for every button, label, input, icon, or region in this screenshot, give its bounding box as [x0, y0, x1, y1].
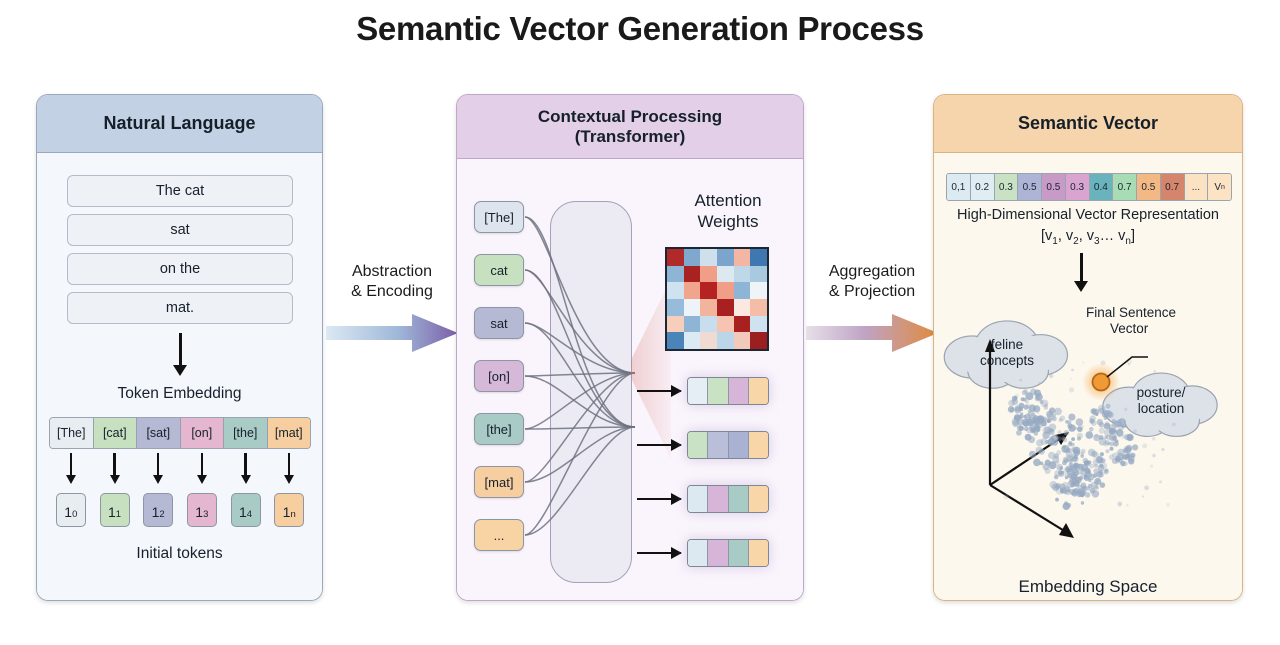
output-vector-segment — [749, 432, 768, 458]
sentence-line: on the — [67, 253, 293, 285]
output-vector-segment — [749, 486, 768, 512]
output-vector-segment — [708, 486, 728, 512]
embedding-cell: [The] — [50, 418, 94, 448]
attention-cell — [717, 316, 734, 333]
contextual-token: cat — [474, 254, 524, 286]
panel-contextual-processing: Contextual Processing (Transformer) [The… — [456, 94, 804, 601]
output-arrow-icon — [637, 390, 681, 392]
attention-cell — [700, 266, 717, 283]
output-vector-segment — [688, 378, 708, 404]
gradient-arrow-icon — [806, 312, 938, 354]
initial-token-cell: 11 — [100, 493, 130, 527]
down-arrow-icon — [180, 453, 224, 484]
token-embedding-row: [The][cat][sat][on][the][mat] — [49, 417, 311, 449]
initial-token-cell: 14 — [231, 493, 261, 527]
attention-cell — [717, 249, 734, 266]
attention-cell — [667, 299, 684, 316]
down-arrow-icon — [267, 453, 311, 484]
semantic-vector-cell: 0.4 — [1090, 174, 1114, 200]
semantic-vector-cell: 0.7 — [1113, 174, 1137, 200]
attention-cell — [700, 282, 717, 299]
initial-token-cell: 10 — [56, 493, 86, 527]
sentence-line: mat. — [67, 292, 293, 324]
output-vector-segment — [729, 486, 749, 512]
down-arrow-icon — [93, 453, 137, 484]
connector-label: Aggregation & Projection — [806, 262, 938, 302]
connector-aggregation-projection: Aggregation & Projection — [806, 262, 938, 354]
attention-cell — [700, 249, 717, 266]
output-vector-segment — [688, 486, 708, 512]
output-vector — [687, 539, 769, 567]
connector-abstraction-encoding: Abstraction & Encoding — [326, 262, 458, 354]
attention-cell — [684, 266, 701, 283]
attention-cell — [734, 249, 751, 266]
semantic-vector-cell: 0.2 — [971, 174, 995, 200]
output-vector — [687, 485, 769, 513]
embedding-space-plot: feline concepts posture/ location Final … — [934, 289, 1243, 559]
attention-cell — [667, 332, 684, 349]
contextual-token: sat — [474, 307, 524, 339]
output-vector-segment — [708, 378, 728, 404]
output-vector-segment — [729, 378, 749, 404]
panel-header-line1: Contextual Processing — [538, 107, 722, 127]
attention-cell — [734, 332, 751, 349]
embedding-cell: [on] — [181, 418, 225, 448]
sentence-line: sat — [67, 214, 293, 246]
contextual-token: [on] — [474, 360, 524, 392]
down-arrow-icon — [224, 453, 268, 484]
embedding-cell: [the] — [224, 418, 268, 448]
semantic-vector-cell: 0,1 — [947, 174, 971, 200]
token-embedding-label: Token Embedding — [37, 385, 322, 403]
panel-header-line2: (Transformer) — [538, 127, 722, 147]
semantic-vector-cell: 0.5 — [1042, 174, 1066, 200]
output-vector — [687, 377, 769, 405]
attention-cell — [667, 316, 684, 333]
semantic-vector-cell: 0.7 — [1161, 174, 1185, 200]
attention-cell — [717, 299, 734, 316]
output-vector-segment — [749, 378, 768, 404]
attention-cell — [667, 282, 684, 299]
contextual-token: [mat] — [474, 466, 524, 498]
attention-cell — [667, 249, 684, 266]
output-vector-segment — [688, 540, 708, 566]
attention-cell — [684, 299, 701, 316]
panel-natural-language-header: Natural Language — [37, 95, 322, 153]
attention-cell — [684, 282, 701, 299]
semantic-vector-cell: 0.5 — [1018, 174, 1042, 200]
high-dimensional-vector-row: 0,10.20.30.50.50.30.40.70.50.7...Vn — [946, 173, 1232, 201]
page-title: Semantic Vector Generation Process — [0, 10, 1280, 48]
attention-cell — [750, 316, 767, 333]
attention-cell — [684, 249, 701, 266]
attention-cell — [717, 332, 734, 349]
initial-token-cell: 1n — [274, 493, 304, 527]
down-arrow-icon — [49, 453, 93, 484]
cluster-label-posture: posture/ location — [1120, 385, 1202, 417]
output-vector — [687, 431, 769, 459]
panel-contextual-processing-header: Contextual Processing (Transformer) — [457, 95, 803, 159]
gradient-arrow-icon — [326, 312, 458, 354]
attention-weights-matrix — [665, 247, 769, 351]
output-arrow-icon — [637, 444, 681, 446]
embedding-cell: [cat] — [94, 418, 138, 448]
semantic-vector-cell: 0.3 — [995, 174, 1019, 200]
output-vector-segment — [708, 432, 728, 458]
vector-caption: High-Dimensional Vector Representation — [934, 207, 1242, 223]
initial-tokens-label: Initial tokens — [37, 545, 322, 563]
panel-natural-language-body: The cat sat on the mat. Token Embedding … — [37, 153, 322, 600]
semantic-vector-cell: Vn — [1208, 174, 1231, 200]
down-arrow-icon — [1074, 253, 1088, 292]
embedding-cell: [mat] — [268, 418, 311, 448]
attention-cell — [750, 282, 767, 299]
down-arrow-icon — [173, 333, 187, 376]
attention-cell — [750, 299, 767, 316]
attention-cell — [734, 299, 751, 316]
contextual-token: ... — [474, 519, 524, 551]
initial-tokens-row: 10111213141n — [49, 493, 311, 527]
final-sentence-vector-label: Final Sentence Vector — [1086, 305, 1226, 337]
attention-cell — [734, 316, 751, 333]
vector-notation: [v1, v2, v3… vn] — [934, 228, 1242, 247]
attention-cell — [717, 266, 734, 283]
output-vector-segment — [729, 432, 749, 458]
attention-cell — [717, 282, 734, 299]
output-arrow-icon — [637, 498, 681, 500]
panel-contextual-processing-body: [The]catsat[on][the][mat]... Attention W… — [457, 159, 803, 600]
output-vector-segment — [749, 540, 768, 566]
output-arrow-icon — [637, 552, 681, 554]
output-vector-segment — [708, 540, 728, 566]
attention-cell — [734, 282, 751, 299]
attention-cell — [750, 249, 767, 266]
sentence-list: The cat sat on the mat. — [67, 175, 293, 331]
attention-cell — [750, 332, 767, 349]
attention-cell — [700, 299, 717, 316]
attention-cell — [734, 266, 751, 283]
sentence-line: The cat — [67, 175, 293, 207]
embedding-space-label: Embedding Space — [934, 577, 1242, 597]
attention-cell — [700, 332, 717, 349]
attention-cell — [667, 266, 684, 283]
semantic-vector-cell: ... — [1185, 174, 1209, 200]
initial-token-cell: 13 — [187, 493, 217, 527]
output-vector-segment — [688, 432, 708, 458]
panel-natural-language: Natural Language The cat sat on the mat.… — [36, 94, 323, 601]
attention-cell — [684, 316, 701, 333]
down-arrow-icon — [136, 453, 180, 484]
panel-semantic-vector: Semantic Vector 0,10.20.30.50.50.30.40.7… — [933, 94, 1243, 601]
panel-semantic-vector-header: Semantic Vector — [934, 95, 1242, 153]
attention-cell — [700, 316, 717, 333]
semantic-vector-cell: 0.5 — [1137, 174, 1161, 200]
contextual-token: [The] — [474, 201, 524, 233]
panel-semantic-vector-body: 0,10.20.30.50.50.30.40.70.50.7...Vn High… — [934, 153, 1242, 600]
output-vector-segment — [729, 540, 749, 566]
diagram-canvas: Semantic Vector Generation Process Natur… — [0, 0, 1280, 645]
attention-cell — [750, 266, 767, 283]
attention-cell — [684, 332, 701, 349]
connector-label: Abstraction & Encoding — [326, 262, 458, 302]
contextual-token: [the] — [474, 413, 524, 445]
attention-weights-label: Attention Weights — [653, 191, 803, 232]
embedding-cell: [sat] — [137, 418, 181, 448]
semantic-vector-cell: 0.3 — [1066, 174, 1090, 200]
cluster-label-feline: feline concepts — [964, 337, 1050, 369]
initial-token-cell: 12 — [143, 493, 173, 527]
token-arrows-group — [49, 453, 311, 484]
